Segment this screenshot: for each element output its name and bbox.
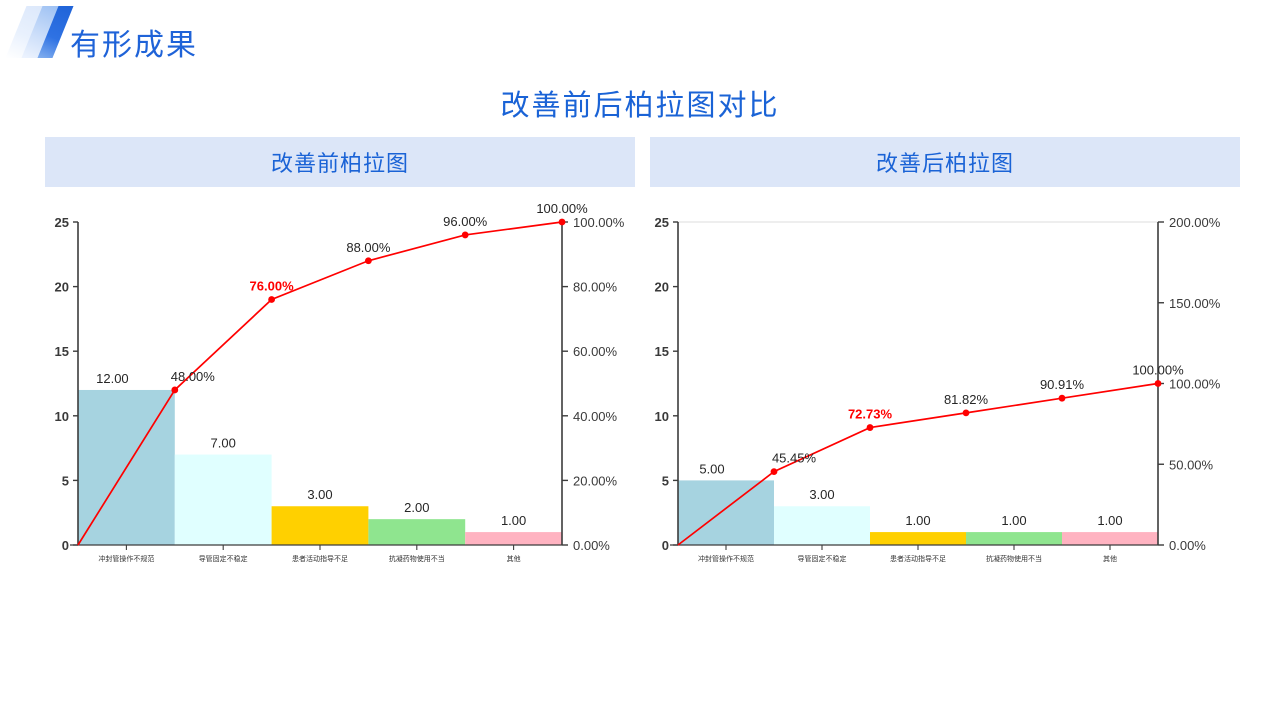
svg-text:50.00%: 50.00% <box>1169 457 1214 472</box>
svg-text:20: 20 <box>655 280 669 295</box>
svg-text:抗凝药物使用不当: 抗凝药物使用不当 <box>389 554 445 563</box>
pareto-chart-after-svg: 05101520250.00%50.00%100.00%150.00%200.0… <box>650 200 1250 575</box>
svg-text:抗凝药物使用不当: 抗凝药物使用不当 <box>986 554 1042 563</box>
svg-text:81.82%: 81.82% <box>944 392 989 407</box>
section-title: 有形成果 <box>70 20 198 64</box>
svg-text:96.00%: 96.00% <box>443 214 488 229</box>
panel-header-before-label: 改善前柏拉图 <box>271 146 409 178</box>
svg-text:45.45%: 45.45% <box>772 451 817 466</box>
svg-text:20: 20 <box>55 280 69 295</box>
pareto-chart-before-svg: 05101520250.00%20.00%40.00%60.00%80.00%1… <box>45 200 640 575</box>
svg-text:1.00: 1.00 <box>501 513 526 528</box>
svg-text:25: 25 <box>55 215 69 230</box>
svg-text:0: 0 <box>662 538 669 553</box>
svg-text:患者活动指导不足: 患者活动指导不足 <box>890 554 946 563</box>
svg-text:90.91%: 90.91% <box>1040 377 1085 392</box>
svg-text:1.00: 1.00 <box>905 513 930 528</box>
svg-text:2.00: 2.00 <box>404 500 429 515</box>
svg-text:10: 10 <box>55 409 69 424</box>
svg-text:导管固定不稳定: 导管固定不稳定 <box>199 554 248 563</box>
svg-text:15: 15 <box>55 344 69 359</box>
svg-text:100.00%: 100.00% <box>573 215 625 230</box>
svg-text:1.00: 1.00 <box>1001 513 1026 528</box>
svg-text:0.00%: 0.00% <box>573 538 610 553</box>
svg-text:100.00%: 100.00% <box>1132 363 1184 378</box>
svg-text:5: 5 <box>662 473 669 488</box>
svg-text:48.00%: 48.00% <box>171 369 216 384</box>
slide-accent-logo <box>12 6 74 58</box>
svg-text:150.00%: 150.00% <box>1169 296 1221 311</box>
svg-text:40.00%: 40.00% <box>573 409 618 424</box>
svg-text:3.00: 3.00 <box>809 487 834 502</box>
svg-text:25: 25 <box>655 215 669 230</box>
svg-text:0.00%: 0.00% <box>1169 538 1206 553</box>
svg-text:5.00: 5.00 <box>699 461 724 476</box>
svg-text:10: 10 <box>655 409 669 424</box>
svg-text:冲封管操作不规范: 冲封管操作不规范 <box>98 554 154 563</box>
svg-text:0: 0 <box>62 538 69 553</box>
slide: 有形成果 改善前后柏拉图对比 改善前柏拉图 改善后柏拉图 05101520250… <box>0 0 1280 720</box>
svg-text:76.00%: 76.00% <box>250 279 295 294</box>
svg-text:3.00: 3.00 <box>307 487 332 502</box>
svg-text:其他: 其他 <box>507 554 521 563</box>
panel-header-after: 改善后柏拉图 <box>650 137 1240 187</box>
svg-text:80.00%: 80.00% <box>573 280 618 295</box>
svg-text:1.00: 1.00 <box>1097 513 1122 528</box>
panel-header-before: 改善前柏拉图 <box>45 137 635 187</box>
svg-text:200.00%: 200.00% <box>1169 215 1221 230</box>
svg-text:5: 5 <box>62 473 69 488</box>
svg-text:冲封管操作不规范: 冲封管操作不规范 <box>698 554 754 563</box>
svg-text:100.00%: 100.00% <box>1169 377 1221 392</box>
svg-text:15: 15 <box>655 344 669 359</box>
svg-text:其他: 其他 <box>1103 554 1117 563</box>
svg-text:12.00: 12.00 <box>96 371 129 386</box>
pareto-chart-before: 05101520250.00%20.00%40.00%60.00%80.00%1… <box>45 200 640 575</box>
svg-text:导管固定不稳定: 导管固定不稳定 <box>798 554 847 563</box>
svg-text:72.73%: 72.73% <box>848 407 893 422</box>
svg-text:60.00%: 60.00% <box>573 344 618 359</box>
pareto-chart-after: 05101520250.00%50.00%100.00%150.00%200.0… <box>650 200 1250 575</box>
page-title: 改善前后柏拉图对比 <box>0 82 1280 124</box>
svg-text:7.00: 7.00 <box>211 436 236 451</box>
svg-text:患者活动指导不足: 患者活动指导不足 <box>292 554 348 563</box>
svg-text:100.00%: 100.00% <box>536 201 588 216</box>
svg-text:88.00%: 88.00% <box>346 240 391 255</box>
svg-text:20.00%: 20.00% <box>573 473 618 488</box>
panel-header-after-label: 改善后柏拉图 <box>876 146 1014 178</box>
